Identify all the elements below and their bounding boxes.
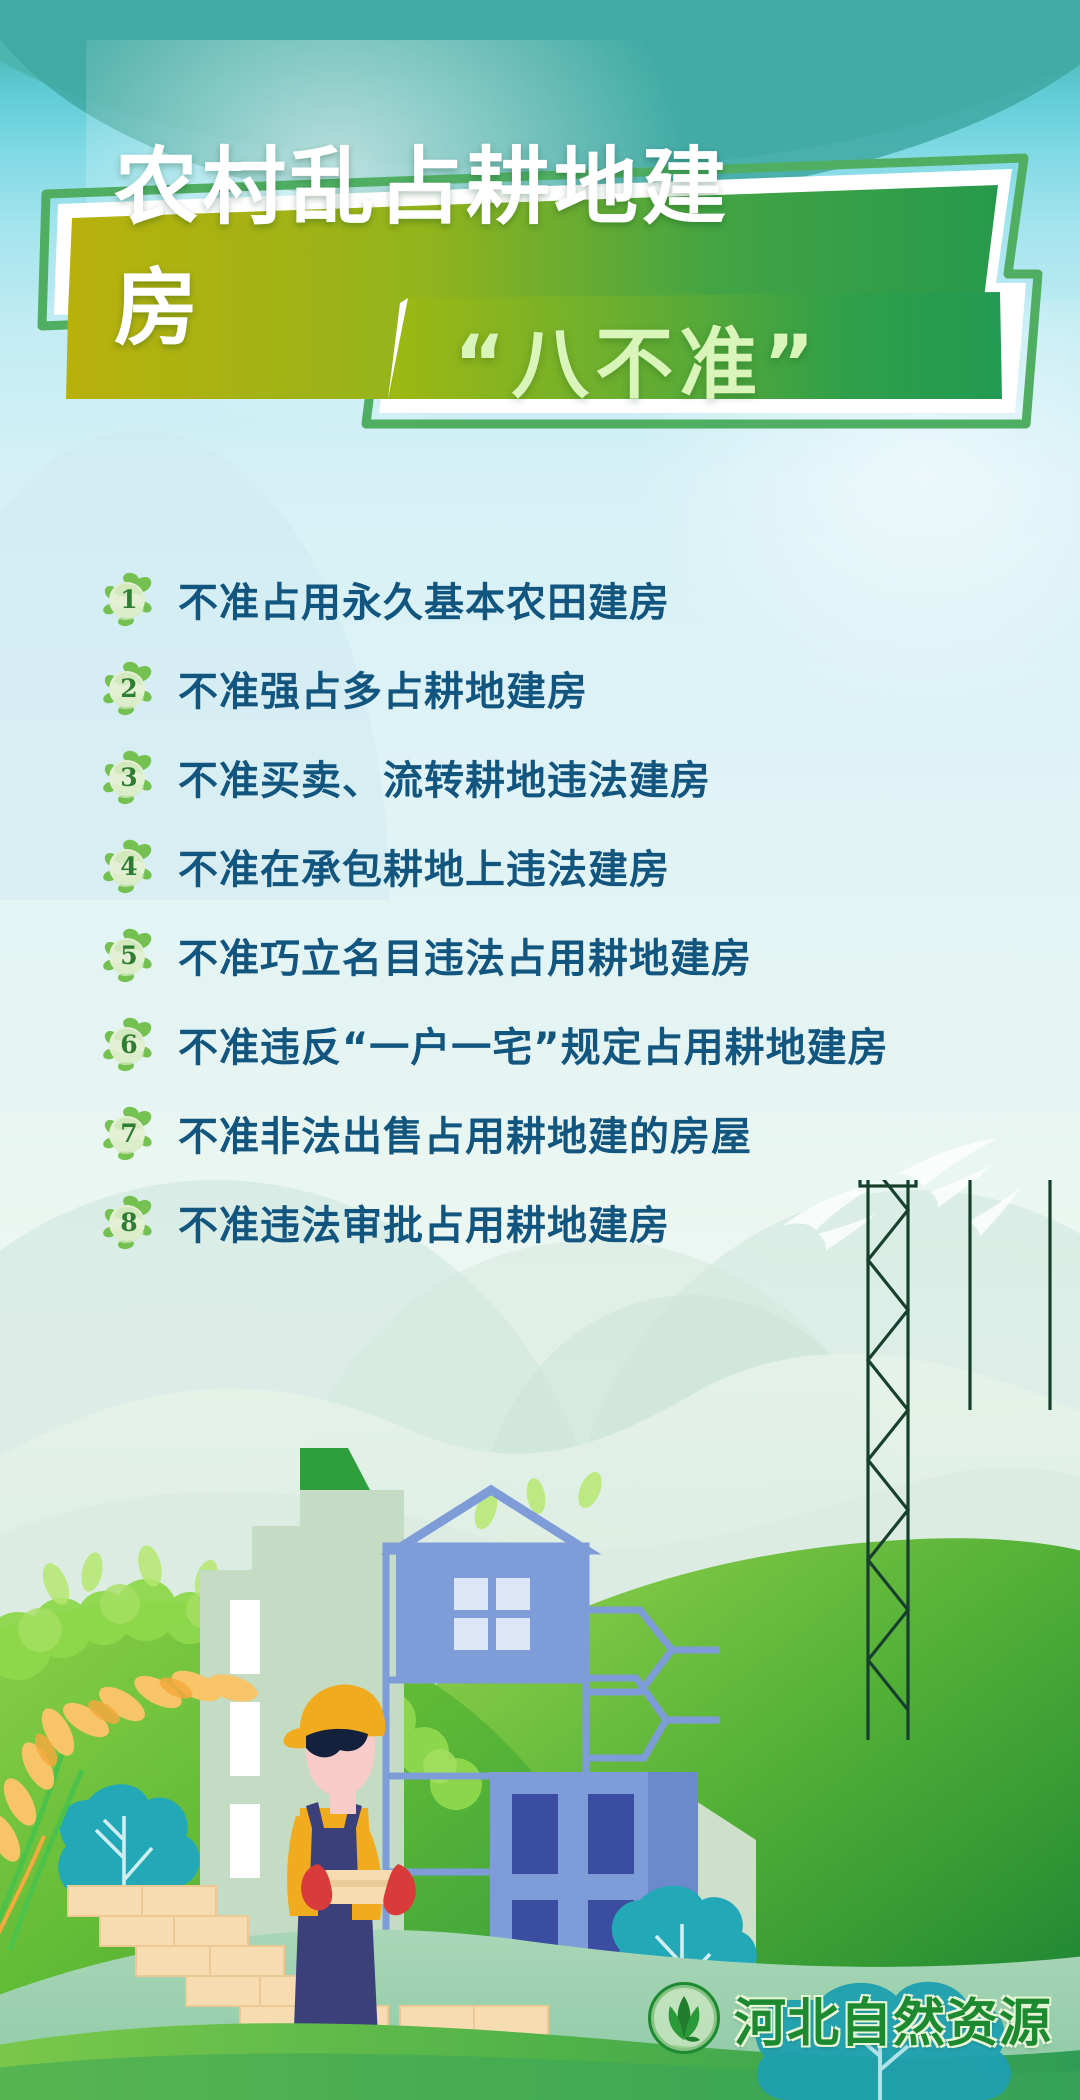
hebei-natural-resources-logo: 河北自然资源: [646, 1980, 1052, 2056]
window-slot: [230, 1600, 260, 1674]
logo-text: 河北自然资源: [734, 1981, 1052, 2056]
worker-neck: [330, 1786, 356, 1814]
rule-text: 不准买卖、流转耕地违法建房: [178, 748, 711, 806]
badge-number: 4: [100, 838, 157, 894]
rule-text: 不准非法出售占用耕地建的房屋: [178, 1104, 752, 1162]
leaf-emblem-icon: [646, 1980, 722, 2056]
window-slot: [230, 1702, 260, 1776]
badge-number: 3: [100, 749, 157, 805]
poster-root: 农村乱占耕地建房 “八不准”: [0, 0, 1080, 2100]
rule-text: 不准强占多占耕地建房: [178, 659, 588, 717]
rule-text: 不准在承包耕地上违法建房: [178, 837, 670, 895]
list-item: 7 不准非法出售占用耕地建的房屋: [100, 1109, 1000, 1157]
badge-number: 1: [100, 571, 157, 627]
badge-leaf-icon: 4: [100, 838, 156, 894]
rule-text: 不准违反“一户一宅”规定占用耕地建房: [178, 1015, 889, 1073]
badge-number: 5: [100, 927, 157, 983]
badge-number: 6: [100, 1016, 157, 1072]
list-item: 6 不准违反“一户一宅”规定占用耕地建房: [100, 1020, 1000, 1068]
badge-number: 2: [100, 660, 157, 716]
banner-title-line1: 农村乱占耕地建房: [114, 186, 814, 296]
list-item: 1 不准占用永久基本农田建房: [100, 575, 1000, 623]
list-item: 5 不准巧立名目违法占用耕地建房: [100, 931, 1000, 979]
badge-leaf-icon: 1: [100, 571, 156, 627]
list-item: 2 不准强占多占耕地建房: [100, 664, 1000, 712]
title-banner: 农村乱占耕地建房 “八不准”: [36, 152, 1048, 432]
banner-title-line2: “八不准”: [454, 304, 1014, 412]
badge-number: 7: [100, 1105, 157, 1161]
illustration-scene: [0, 1180, 1080, 2100]
badge-leaf-icon: 7: [100, 1105, 156, 1161]
badge-leaf-icon: 3: [100, 749, 156, 805]
badge-leaf-icon: 2: [100, 660, 156, 716]
rule-text: 不准占用永久基本农田建房: [178, 570, 670, 628]
window-slot: [230, 1804, 260, 1878]
badge-leaf-icon: 5: [100, 927, 156, 983]
list-item: 4 不准在承包耕地上违法建房: [100, 842, 1000, 890]
badge-leaf-icon: 6: [100, 1016, 156, 1072]
rule-text: 不准巧立名目违法占用耕地建房: [178, 926, 752, 984]
list-item: 3 不准买卖、流转耕地违法建房: [100, 753, 1000, 801]
